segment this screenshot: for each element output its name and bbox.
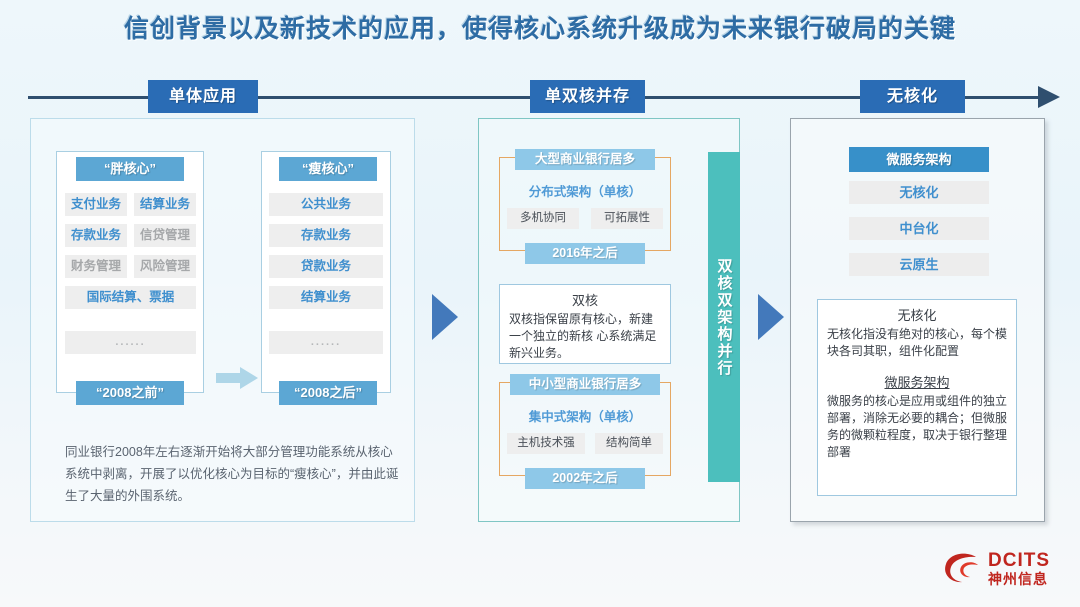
panel-monolithic: “胖核心” “2008之前” “瘦核心” “2008之后” 支付业务 结算业务 …: [30, 118, 415, 522]
small-bank-architecture: 集中式架构（单核）: [499, 406, 671, 425]
dual-core-card: 双核 双核指保留原有核心，新建一个独立的新核 心系统满足新兴业务。: [499, 284, 671, 364]
logo-text: DCITS 神州信息: [988, 551, 1050, 588]
panel-transition-arrow-icon-1: [432, 294, 458, 340]
microservice-item: 无核化: [849, 181, 989, 204]
coreless-card: 无核化 无核化指没有绝对的核心，每个模块各司其职，组件化配置 微服务架构 微服务…: [817, 299, 1017, 496]
small-bank-tag: 结构简单: [595, 433, 663, 454]
small-bank-header: 中小型商业银行居多: [510, 374, 660, 395]
timeline-arrow-icon: [1038, 86, 1060, 108]
dual-core-vertical-banner: 双核双架构并行: [708, 152, 740, 482]
coreless-card-title-1: 无核化: [827, 305, 1007, 324]
large-bank-footer: 2016年之后: [525, 243, 645, 264]
thin-core-cell: 存款业务: [269, 224, 383, 247]
coreless-card-title-2: 微服务架构: [827, 372, 1007, 391]
timeline-stage-2[interactable]: 单双核并存: [530, 80, 645, 113]
transition-arrow-icon: [216, 367, 258, 389]
large-bank-architecture: 分布式架构（单核）: [499, 181, 671, 200]
company-logo: DCITS 神州信息: [942, 549, 1064, 595]
thin-core-cell-dots: ......: [269, 331, 383, 354]
large-bank-group: [499, 157, 671, 251]
fat-core-cell: 支付业务: [65, 193, 127, 216]
panel-dual-core: 大型商业银行居多 分布式架构（单核） 多机协同 可拓展性 2016年之后 双核 …: [478, 118, 740, 522]
large-bank-tag: 多机协同: [507, 208, 579, 229]
fat-core-caption-bottom: “2008之前”: [76, 381, 184, 405]
coreless-card-body-2: 微服务的核心是应用或组件的独立部署，消除无必要的耦合；但微服务的微颗粒程度，取决…: [827, 393, 1007, 461]
microservice-item: 中台化: [849, 217, 989, 240]
thin-core-cell: 公共业务: [269, 193, 383, 216]
fat-core-cell: 信贷管理: [134, 224, 196, 247]
panel-coreless: 微服务架构 无核化 中台化 云原生 无核化 无核化指没有绝对的核心，每个模块各司…: [790, 118, 1045, 522]
fat-core-cell: 国际结算、票据: [65, 286, 196, 309]
fat-core-cell: 存款业务: [65, 224, 127, 247]
fat-core-cell: 结算业务: [134, 193, 196, 216]
logo-text-en: DCITS: [988, 551, 1050, 571]
monolithic-note: 同业银行2008年左右逐渐开始将大部分管理功能系统从核心系统中剥离，开展了以优化…: [65, 441, 405, 507]
small-bank-tag: 主机技术强: [507, 433, 585, 454]
large-bank-tag: 可拓展性: [591, 208, 663, 229]
panel-transition-arrow-icon-2: [758, 294, 784, 340]
coreless-card-body-1: 无核化指没有绝对的核心，每个模块各司其职，组件化配置: [827, 326, 1007, 360]
small-bank-group: [499, 382, 671, 476]
dual-core-card-body: 双核指保留原有核心，新建一个独立的新核 心系统满足新兴业务。: [509, 311, 661, 362]
large-bank-header: 大型商业银行居多: [515, 149, 655, 170]
fat-core-cell-dots: ......: [65, 331, 196, 354]
microservice-header: 微服务架构: [849, 147, 989, 172]
fat-core-caption-top: “胖核心”: [76, 157, 184, 181]
thin-core-caption-bottom: “2008之后”: [279, 381, 377, 405]
fat-core-cell: 财务管理: [65, 255, 127, 278]
logo-text-cn: 神州信息: [988, 571, 1050, 588]
timeline-stage-1[interactable]: 单体应用: [148, 80, 258, 113]
thin-core-caption-top: “瘦核心”: [279, 157, 377, 181]
page-title: 信创背景以及新技术的应用，使得核心系统升级成为未来银行破局的关键: [0, 9, 1080, 45]
dual-core-card-title: 双核: [509, 290, 661, 309]
fat-core-cell: 风险管理: [134, 255, 196, 278]
dcits-swirl-icon: [942, 549, 986, 589]
thin-core-cell: 结算业务: [269, 286, 383, 309]
microservice-item: 云原生: [849, 253, 989, 276]
timeline: 单体应用 单双核并存 无核化: [0, 78, 1080, 118]
thin-core-cell: 贷款业务: [269, 255, 383, 278]
small-bank-footer: 2002年之后: [525, 468, 645, 489]
timeline-stage-3[interactable]: 无核化: [860, 80, 965, 113]
